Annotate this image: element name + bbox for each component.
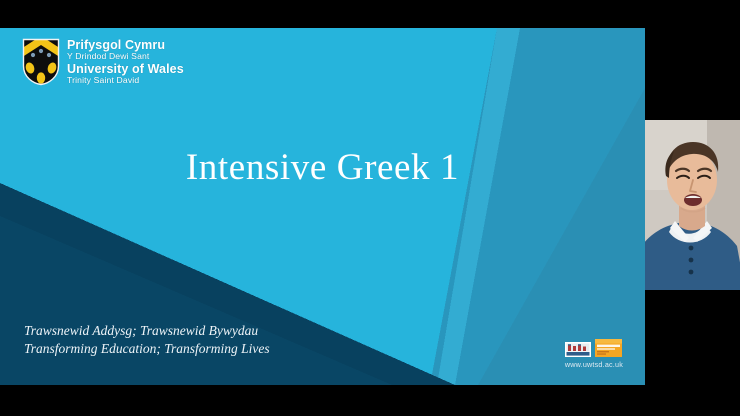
logo-line-welsh-name: Prifysgol Cymru bbox=[67, 39, 184, 52]
presenter-webcam-video[interactable] bbox=[645, 120, 740, 290]
welsh-government-badge-icon bbox=[565, 342, 591, 357]
slide-strapline: Trawsnewid Addysg; Trawsnewid Bywydau Tr… bbox=[24, 322, 270, 359]
strapline-english: Transforming Education; Transforming Liv… bbox=[24, 340, 270, 359]
accreditation-badges bbox=[565, 339, 622, 357]
strapline-welsh: Trawsnewid Addysg; Trawsnewid Bywydau bbox=[24, 322, 270, 341]
footer-website-url: www.uwtsd.ac.uk bbox=[565, 360, 623, 369]
slide-title: Intensive Greek 1 bbox=[0, 146, 645, 189]
logo-line-english-subname: Trinity Saint David bbox=[67, 76, 184, 85]
uwtsd-coat-of-arms-icon bbox=[22, 38, 60, 86]
video-player-canvas[interactable]: Prifysgol Cymru Y Drindod Dewi Sant Univ… bbox=[0, 0, 740, 416]
uwtsd-logo-lockup: Prifysgol Cymru Y Drindod Dewi Sant Univ… bbox=[22, 38, 184, 86]
uwtsd-logo-text: Prifysgol Cymru Y Drindod Dewi Sant Univ… bbox=[67, 39, 184, 86]
logo-line-welsh-subname: Y Drindod Dewi Sant bbox=[67, 52, 184, 61]
slide-footer-marks: www.uwtsd.ac.uk bbox=[565, 339, 623, 369]
presentation-slide: Prifysgol Cymru Y Drindod Dewi Sant Univ… bbox=[0, 28, 645, 385]
investors-in-people-badge-icon bbox=[595, 339, 622, 357]
presenter-webcam-panel[interactable] bbox=[645, 0, 740, 416]
